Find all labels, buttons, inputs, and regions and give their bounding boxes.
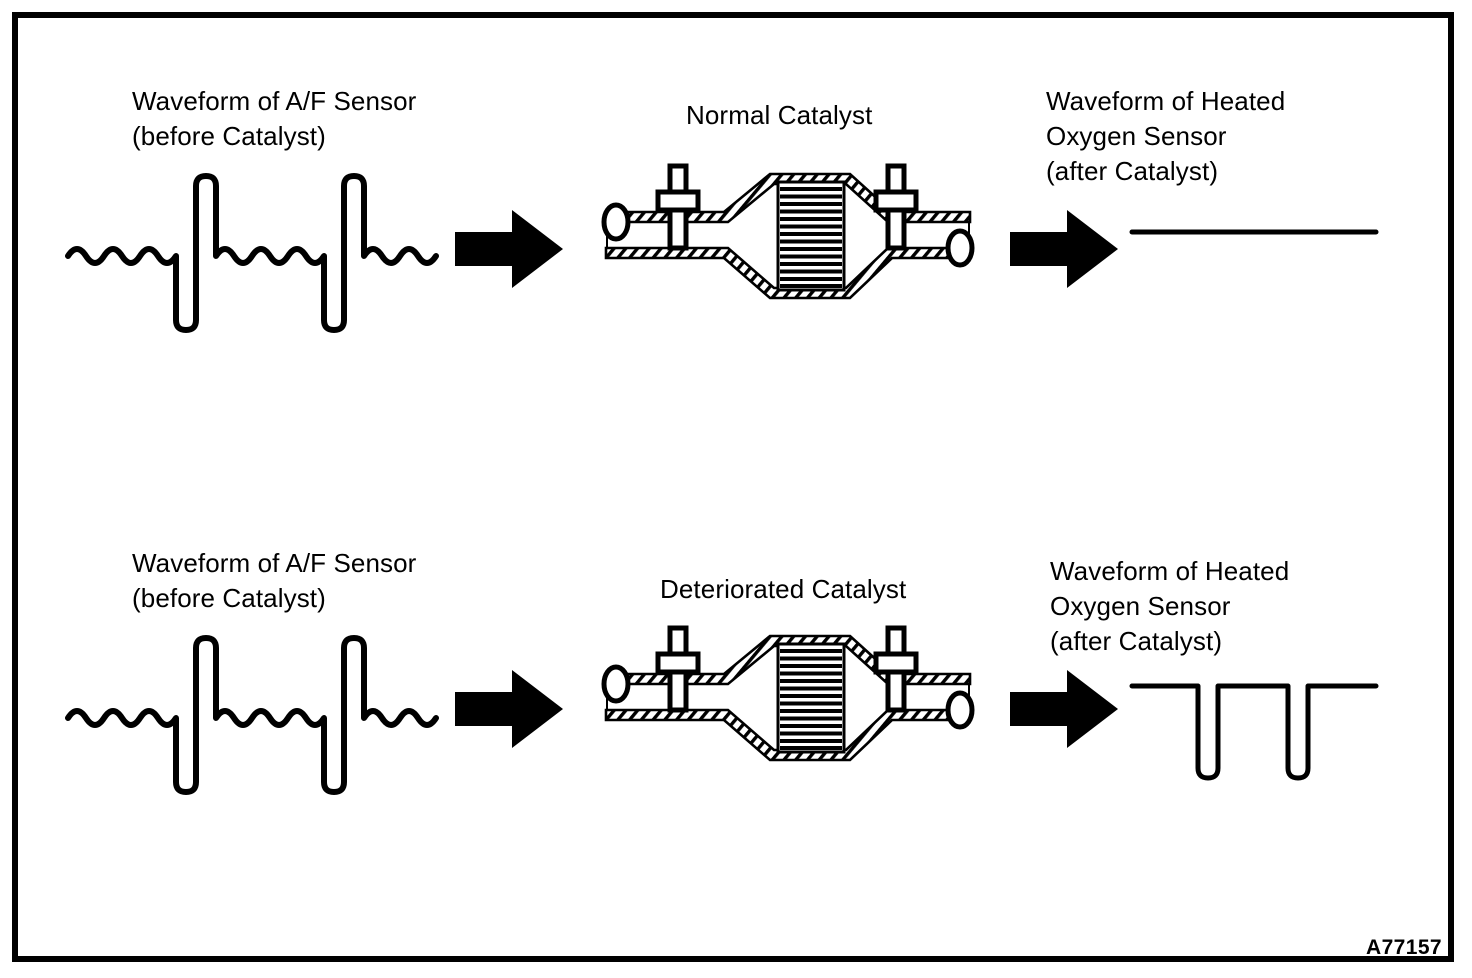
normal-catalytic-converter <box>592 160 984 310</box>
outlet-pipe-opening <box>948 231 972 265</box>
label-deteriorated-catalyst: Deteriorated Catalyst <box>660 572 906 607</box>
diagram-page: Waveform of A/F Sensor (before Catalyst)… <box>0 0 1472 978</box>
label-normal-catalyst: Normal Catalyst <box>686 98 872 133</box>
flow-arrow-4 <box>1010 668 1120 750</box>
inlet-pipe-opening <box>604 667 628 701</box>
flow-arrow-1 <box>455 208 565 290</box>
label-af-sensor-top: Waveform of A/F Sensor (before Catalyst) <box>132 84 416 154</box>
inlet-pipe-opening <box>604 205 628 239</box>
label-heated-oxygen-sensor-top: Waveform of Heated Oxygen Sensor (after … <box>1046 84 1285 189</box>
flow-arrow-3 <box>455 668 565 750</box>
catalyst-monolith <box>778 644 844 752</box>
label-af-sensor-bottom: Waveform of A/F Sensor (before Catalyst) <box>132 546 416 616</box>
af-sensor-waveform-bottom <box>62 622 462 807</box>
deteriorated-catalytic-converter <box>592 622 984 772</box>
flow-arrow-2 <box>1010 208 1120 290</box>
figure-code: A77157 <box>1366 936 1442 960</box>
label-heated-oxygen-sensor-bottom: Waveform of Heated Oxygen Sensor (after … <box>1050 554 1289 659</box>
af-sensor-waveform-top <box>62 160 462 345</box>
switching-waveform <box>1128 672 1380 792</box>
outlet-pipe-opening <box>948 693 972 727</box>
catalyst-monolith <box>778 182 844 290</box>
flat-line-waveform <box>1128 210 1380 250</box>
